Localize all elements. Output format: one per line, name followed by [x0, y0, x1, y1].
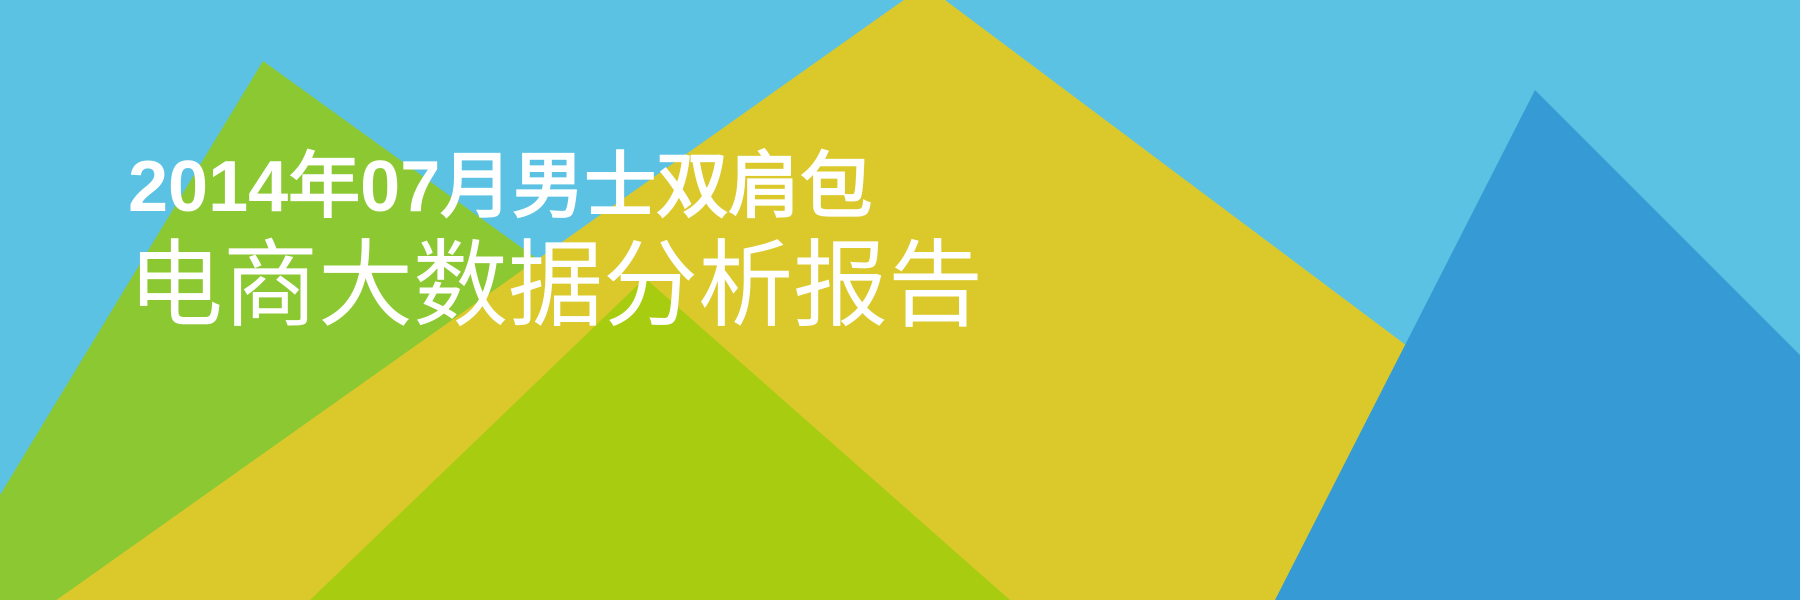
page-title: 2014年07月男士双肩包 电商大数据分析报告	[128, 140, 1228, 342]
title-line-primary: 2014年07月男士双肩包	[128, 140, 1228, 234]
title-line-secondary: 电商大数据分析报告	[128, 230, 1228, 342]
report-cover-banner: 2014年07月男士双肩包 电商大数据分析报告	[0, 0, 1800, 600]
